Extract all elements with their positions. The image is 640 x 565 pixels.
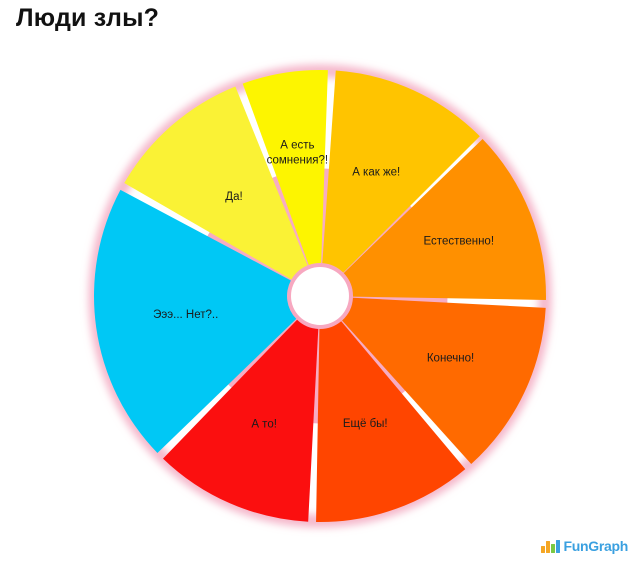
pie-slice-label: Естественно! — [424, 235, 495, 247]
fungraph-logo: FunGraph — [541, 533, 628, 553]
brand-name-part-1: Fun — [564, 538, 589, 554]
pie-slice-label: Конечно! — [427, 352, 474, 364]
pie-slice-label: А как же! — [352, 167, 400, 179]
pie-chart-svg: А как же!Естественно!Конечно!Ещё бы!А то… — [0, 0, 640, 565]
pie-slice-label: Ещё бы! — [343, 418, 388, 430]
donut-hole — [291, 267, 349, 325]
brand-name: FunGraph — [564, 539, 629, 553]
bar-chart-icon — [541, 539, 560, 553]
pie-slice-label: Да! — [225, 191, 242, 203]
brand-name-part-2: Graph — [588, 538, 628, 554]
pie-slice-label: А то! — [251, 419, 277, 431]
pie-slice-label: Эээ... Нет?.. — [153, 309, 218, 321]
pie-chart: А как же!Естественно!Конечно!Ещё бы!А то… — [0, 0, 640, 565]
